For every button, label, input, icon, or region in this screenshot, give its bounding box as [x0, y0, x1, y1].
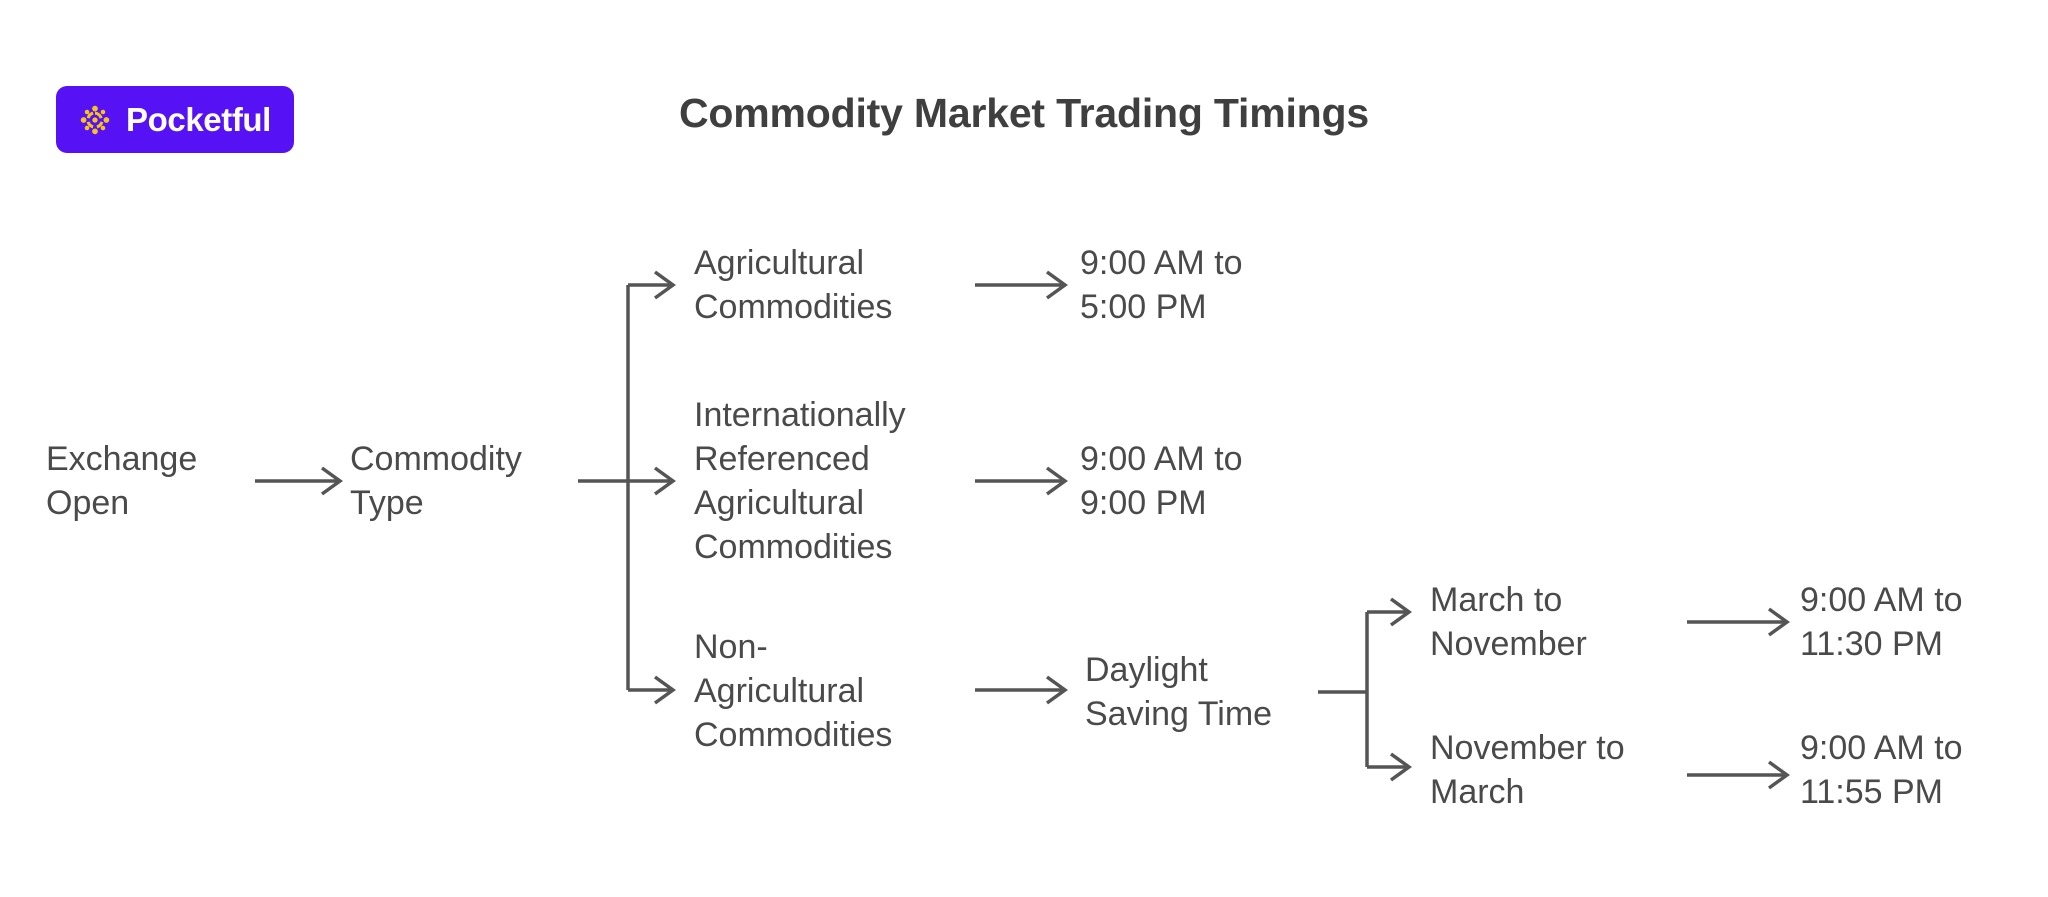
node-internationally-referenced-timing: 9:00 AM to 9:00 PM	[1080, 437, 1340, 525]
node-march-to-november: March to November	[1430, 578, 1710, 666]
node-november-to-march: November to March	[1430, 726, 1710, 814]
node-agricultural-commodities: Agricultural Commodities	[694, 241, 984, 329]
arrow-start-to-commodity-type	[255, 468, 340, 494]
arrow-agricultural-to-timing	[975, 272, 1065, 298]
node-internationally-referenced-commodities: Internationally Referenced Agricultural …	[694, 393, 994, 569]
node-agricultural-timing: 9:00 AM to 5:00 PM	[1080, 241, 1340, 329]
node-november-to-march-timing: 9:00 AM to 11:55 PM	[1800, 726, 2048, 814]
arrow-non-agricultural-to-daylight	[975, 677, 1065, 703]
flowchart-connectors	[0, 0, 2048, 897]
node-non-agricultural-commodities: Non- Agricultural Commodities	[694, 625, 984, 757]
split-commodity-type	[578, 272, 673, 703]
node-commodity-type: Commodity Type	[350, 437, 580, 525]
node-daylight-saving-time: Daylight Saving Time	[1085, 648, 1345, 736]
node-exchange-open: Exchange Open	[46, 437, 246, 525]
node-march-to-november-timing: 9:00 AM to 11:30 PM	[1800, 578, 2048, 666]
